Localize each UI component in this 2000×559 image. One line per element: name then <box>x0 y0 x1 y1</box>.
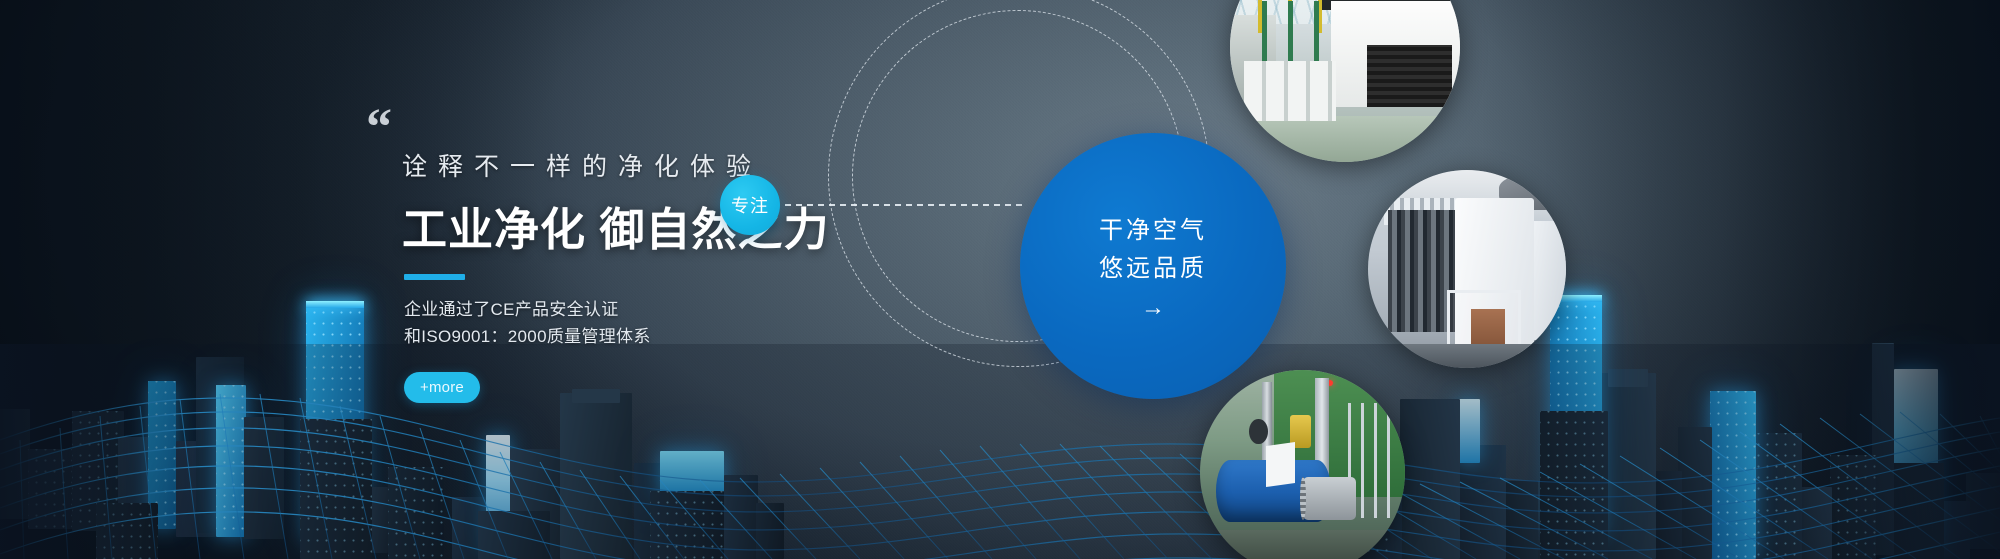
photo-textile-machinery-line[interactable] <box>1368 170 1566 368</box>
focus-badge[interactable]: 专注 <box>720 175 780 235</box>
dashed-connector-line <box>785 204 1023 206</box>
photo-scene <box>1368 170 1566 368</box>
photo-scene <box>1200 370 1405 559</box>
photo-industrial-plant-hall[interactable] <box>1230 0 1460 162</box>
main-circle-line-1: 干净空气 <box>1099 212 1207 249</box>
photo-blue-pressure-vessel-piping[interactable] <box>1200 370 1405 559</box>
focus-badge-label: 专注 <box>731 192 769 218</box>
more-button[interactable]: +more <box>404 372 480 403</box>
circle-diagram: 专注 干净空气 悠远品质 → <box>780 0 1500 559</box>
arrow-right-icon: → <box>1141 296 1165 320</box>
main-message-circle[interactable]: 干净空气 悠远品质 → <box>1020 133 1286 399</box>
main-circle-line-2: 悠远品质 <box>1099 250 1207 287</box>
accent-divider <box>404 274 465 280</box>
photo-scene <box>1230 0 1460 162</box>
hero-banner: “ 诠释不一样的净化体验 工业净化 御自然之力 企业通过了CE产品安全认证 和I… <box>0 0 2000 559</box>
